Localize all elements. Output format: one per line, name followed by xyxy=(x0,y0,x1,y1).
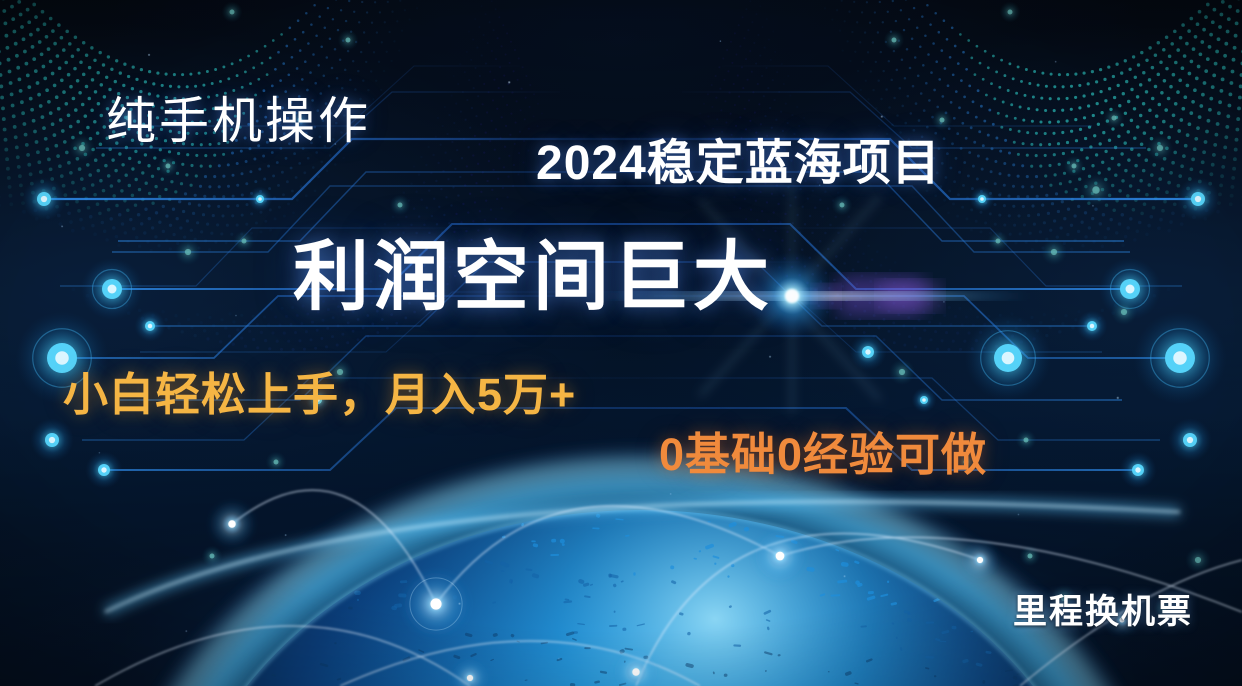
headline-2024-blue-ocean-project: 2024稳定蓝海项目 xyxy=(536,140,941,188)
headline-pure-mobile: 纯手机操作 xyxy=(106,96,371,146)
headline-huge-profit-margin: 利润空间巨大 xyxy=(293,240,773,316)
brand-watermark: 里程换机票 xyxy=(1013,595,1193,629)
subheadline-zero-experience: 0基础0经验可做 xyxy=(659,432,987,477)
subheadline-beginner-friendly-income: 小白轻松上手，月入5万+ xyxy=(63,372,576,417)
promo-banner: 纯手机操作 2024稳定蓝海项目 利润空间巨大 小白轻松上手，月入5万+ 0基础… xyxy=(0,0,1242,686)
